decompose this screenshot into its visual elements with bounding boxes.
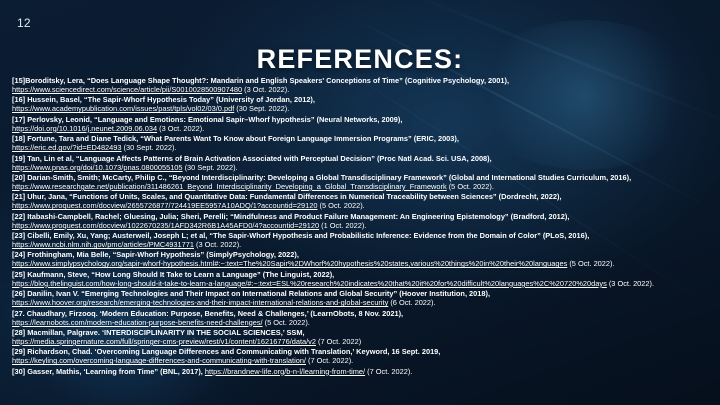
reference-text: [27. Chaudhary, Firzooq. ‘Modern Educati… bbox=[12, 309, 403, 318]
reference-link[interactable]: https://www.academypublication.com/issue… bbox=[12, 104, 234, 113]
list-item: [17] Perlovsky, Leonid, “Language and Em… bbox=[12, 115, 712, 133]
reference-text: [30] Gasser, Mathis, ‘Learning from Time… bbox=[12, 367, 203, 376]
list-item: [26] Danilin, Ivan V. “Emerging Technolo… bbox=[12, 289, 712, 307]
reference-text: [15]Boroditsky, Lera, “Does Language Sha… bbox=[12, 76, 509, 85]
reference-date: (7 Oct. 2022) bbox=[316, 337, 361, 346]
reference-date: (3 Oct. 2022). bbox=[157, 124, 204, 133]
reference-text: [23] Cibelli, Emily, Xu, Yang; Austerwei… bbox=[12, 231, 589, 240]
page-number: 12 bbox=[17, 16, 31, 30]
list-item: [29] Richardson, Chad. ‘Overcoming Langu… bbox=[12, 347, 712, 365]
reference-date: (6 Oct. 2022). bbox=[388, 298, 435, 307]
list-item: [16] Hussein, Basel, “The Sapir-Whorf Hy… bbox=[12, 95, 712, 113]
reference-date: (3 Oct. 2022). bbox=[194, 240, 241, 249]
reference-date: (30 Sept. 2022). bbox=[183, 163, 238, 172]
reference-link[interactable]: https://learnobots.com/modern-education-… bbox=[12, 318, 263, 327]
reference-link[interactable]: https://www.proquest.com/docview/2655726… bbox=[12, 201, 318, 210]
reference-link[interactable]: https://www.simplypsychology.org/sapir-w… bbox=[12, 259, 567, 268]
reference-date: (5 Oct. 2022). bbox=[318, 201, 365, 210]
reference-link[interactable]: https://media.springernature.com/full/sp… bbox=[12, 337, 316, 346]
reference-date: (5 Oct. 2022). bbox=[447, 182, 494, 191]
reference-link[interactable]: https://brandnew-life.org/b-n-l/learning… bbox=[205, 367, 365, 376]
list-item: [19] Tan, Lin et al, “Language Affects P… bbox=[12, 154, 712, 172]
list-item: [30] Gasser, Mathis, ‘Learning from Time… bbox=[12, 367, 712, 376]
list-item: [22] Itabashi-Campbell, Rachel; Gluesing… bbox=[12, 212, 712, 230]
reference-text: [16] Hussein, Basel, “The Sapir-Whorf Hy… bbox=[12, 95, 315, 104]
reference-date: (3 Oct. 2022). bbox=[242, 85, 289, 94]
list-item: [24] Frothingham, Mia Belle, “Sapir-Whor… bbox=[12, 250, 712, 268]
reference-text: [28] Macmillan, Palgrave. ‘INTERDISCIPLI… bbox=[12, 328, 305, 337]
reference-link[interactable]: https://keyling.com/overcoming-language-… bbox=[12, 356, 306, 365]
reference-text: [20] Darian-Smith, Smith; McCarty, Phili… bbox=[12, 173, 631, 182]
reference-link[interactable]: https://www.ncbi.nlm.nih.gov/pmc/article… bbox=[12, 240, 194, 249]
reference-text: [25] Kaufmann, Steve, “How Long Should I… bbox=[12, 270, 334, 279]
references-list: [15]Boroditsky, Lera, “Does Language Sha… bbox=[12, 76, 712, 377]
list-item: [15]Boroditsky, Lera, “Does Language Sha… bbox=[12, 76, 712, 94]
reference-date: (30 Sept. 2022). bbox=[234, 104, 289, 113]
reference-link[interactable]: https://www.hoover.org/research/emerging… bbox=[12, 298, 388, 307]
reference-date: (30 Sept. 2022). bbox=[122, 143, 177, 152]
reference-link[interactable]: https://eric.ed.gov/?id=ED482493 bbox=[12, 143, 122, 152]
list-item: [25] Kaufmann, Steve, “How Long Should I… bbox=[12, 270, 712, 288]
reference-date: (7 Oct. 2022). bbox=[365, 367, 412, 376]
list-item: [28] Macmillan, Palgrave. ‘INTERDISCIPLI… bbox=[12, 328, 712, 346]
reference-text: [26] Danilin, Ivan V. “Emerging Technolo… bbox=[12, 289, 490, 298]
list-item: [27. Chaudhary, Firzooq. ‘Modern Educati… bbox=[12, 309, 712, 327]
reference-text: [17] Perlovsky, Leonid, “Language and Em… bbox=[12, 115, 402, 124]
list-item: [21] Uhur, Jana, “Functions of Units, Sc… bbox=[12, 192, 712, 210]
list-item: [23] Cibelli, Emily, Xu, Yang; Austerwei… bbox=[12, 231, 712, 249]
reference-link[interactable]: https://doi.org/10.1016/j.neunet.2009.06… bbox=[12, 124, 157, 133]
reference-text: [19] Tan, Lin et al, “Language Affects P… bbox=[12, 154, 492, 163]
reference-text: [24] Frothingham, Mia Belle, “Sapir-Whor… bbox=[12, 250, 299, 259]
reference-text: [21] Uhur, Jana, “Functions of Units, Sc… bbox=[12, 192, 562, 201]
reference-date: (5 Oct. 2022). bbox=[567, 259, 614, 268]
list-item: [20] Darian-Smith, Smith; McCarty, Phili… bbox=[12, 173, 712, 191]
slide-root: 12 REFERENCES: [15]Boroditsky, Lera, “Do… bbox=[0, 0, 720, 405]
page-title: REFERENCES: bbox=[0, 44, 720, 75]
reference-link[interactable]: https://www.researchgate.net/publication… bbox=[12, 182, 447, 191]
reference-link[interactable]: https://www.sciencedirect.com/science/ar… bbox=[12, 85, 242, 94]
reference-text: [22] Itabashi-Campbell, Rachel; Gluesing… bbox=[12, 212, 569, 221]
reference-date: (3 Oct. 2022). bbox=[607, 279, 654, 288]
reference-text: [29] Richardson, Chad. ‘Overcoming Langu… bbox=[12, 347, 440, 356]
reference-link[interactable]: https://www.pnas.org/doi/10.1073/pnas.08… bbox=[12, 163, 183, 172]
reference-link[interactable]: https://blog.thelinguist.com/how-long-sh… bbox=[12, 279, 607, 288]
reference-text: [18] Fortune, Tara and Diane Tedick, “Wh… bbox=[12, 134, 459, 143]
list-item: [18] Fortune, Tara and Diane Tedick, “Wh… bbox=[12, 134, 712, 152]
reference-date: (7 Oct. 2022). bbox=[306, 356, 353, 365]
reference-date: (1 Oct. 2022). bbox=[319, 221, 366, 230]
reference-date: (5 Oct. 2022). bbox=[263, 318, 310, 327]
reference-link[interactable]: https://www.proquest.com/docview/1022670… bbox=[12, 221, 319, 230]
